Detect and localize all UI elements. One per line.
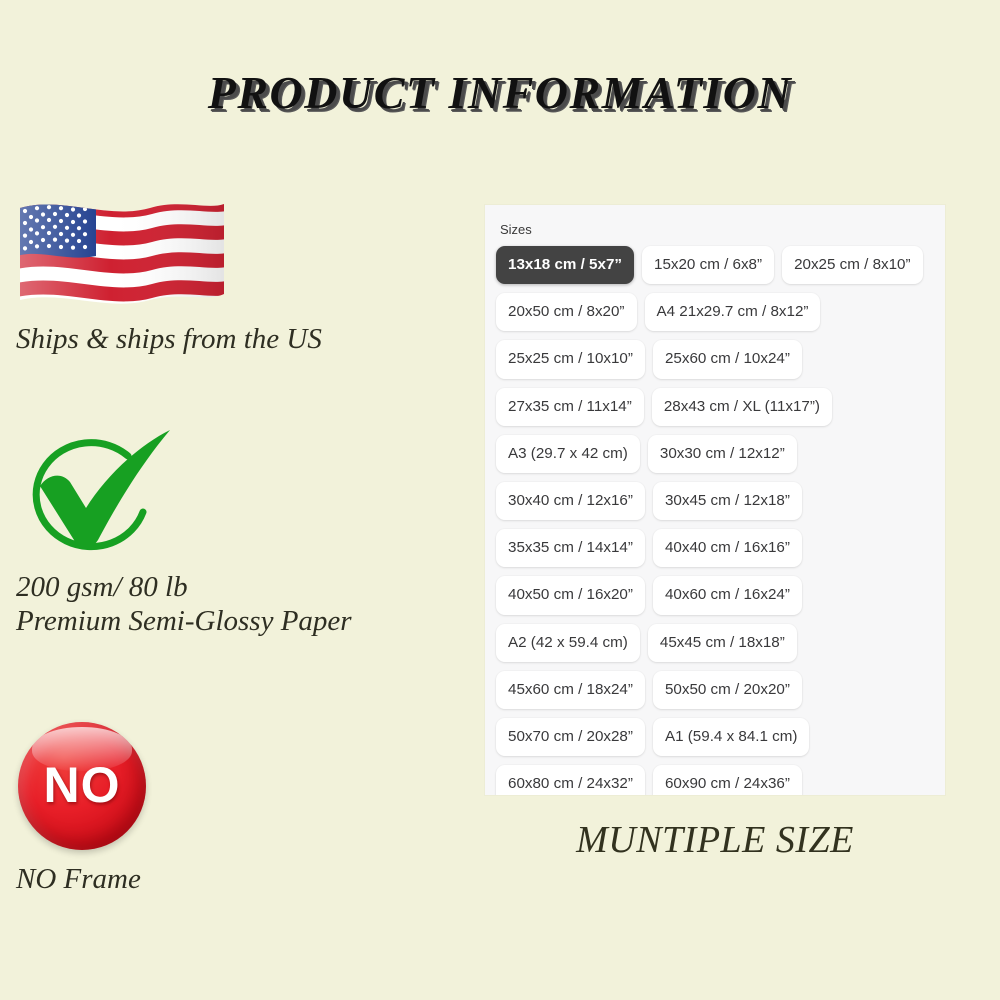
- feature-paper-line2: Premium Semi-Glossy Paper: [16, 604, 486, 638]
- size-options-list: 13x18 cm / 5x7”15x20 cm / 6x8”20x25 cm /…: [496, 246, 945, 795]
- size-option-chip[interactable]: A1 (59.4 x 84.1 cm): [653, 718, 810, 756]
- size-option-chip[interactable]: 45x60 cm / 18x24”: [496, 671, 645, 709]
- size-option-chip[interactable]: A4 21x29.7 cm / 8x12”: [645, 293, 821, 331]
- size-option-chip[interactable]: 25x25 cm / 10x10”: [496, 340, 645, 378]
- size-option-chip[interactable]: 60x80 cm / 24x32”: [496, 765, 645, 795]
- size-option-chip[interactable]: 60x90 cm / 24x36”: [653, 765, 802, 795]
- no-badge-icon: NO: [18, 722, 146, 850]
- features-column: Ships & ships from the US 200 gsm/ 80 lb…: [0, 190, 470, 930]
- size-option-chip[interactable]: 20x50 cm / 8x20”: [496, 293, 637, 331]
- size-option-chip[interactable]: A2 (42 x 59.4 cm): [496, 624, 640, 662]
- size-option-chip[interactable]: 50x70 cm / 20x28”: [496, 718, 645, 756]
- page-title: PRODUCT INFORMATION: [0, 66, 1000, 119]
- feature-ships-label: Ships & ships from the US: [0, 322, 486, 356]
- size-option-chip[interactable]: A3 (29.7 x 42 cm): [496, 435, 640, 473]
- size-option-chip[interactable]: 20x25 cm / 8x10”: [782, 246, 923, 284]
- green-check-icon: [10, 420, 180, 562]
- feature-no-frame-label: NO Frame: [0, 862, 486, 896]
- feature-ships-line1: Ships & ships from the US: [16, 323, 322, 355]
- us-flag-icon: [12, 190, 230, 318]
- size-option-chip[interactable]: 35x35 cm / 14x14”: [496, 529, 645, 567]
- size-option-chip[interactable]: 40x50 cm / 16x20”: [496, 576, 645, 614]
- no-badge-text: NO: [18, 756, 146, 814]
- feature-paper-line1: 200 gsm/ 80 lb: [16, 571, 188, 603]
- size-option-chip[interactable]: 40x40 cm / 16x16”: [653, 529, 802, 567]
- feature-paper-label: 200 gsm/ 80 lb Premium Semi-Glossy Paper: [0, 570, 486, 638]
- size-option-chip[interactable]: 15x20 cm / 6x8”: [642, 246, 774, 284]
- size-option-chip[interactable]: 30x45 cm / 12x18”: [653, 482, 802, 520]
- size-option-chip[interactable]: 40x60 cm / 16x24”: [653, 576, 802, 614]
- size-option-chip[interactable]: 30x30 cm / 12x12”: [648, 435, 797, 473]
- size-option-chip[interactable]: 27x35 cm / 11x14”: [496, 388, 644, 426]
- size-option-chip[interactable]: 50x50 cm / 20x20”: [653, 671, 802, 709]
- sizes-label: Sizes: [500, 222, 532, 237]
- multiple-size-caption: MUNTIPLE SIZE: [485, 818, 945, 862]
- size-option-chip[interactable]: 13x18 cm / 5x7”: [496, 246, 634, 284]
- feature-no-frame-line1: NO Frame: [16, 863, 141, 895]
- size-option-chip[interactable]: 25x60 cm / 10x24”: [653, 340, 802, 378]
- size-option-chip[interactable]: 28x43 cm / XL (11x17”): [652, 388, 832, 426]
- sizes-panel: Sizes 13x18 cm / 5x7”15x20 cm / 6x8”20x2…: [485, 205, 945, 795]
- size-option-chip[interactable]: 30x40 cm / 12x16”: [496, 482, 645, 520]
- size-option-chip[interactable]: 45x45 cm / 18x18”: [648, 624, 797, 662]
